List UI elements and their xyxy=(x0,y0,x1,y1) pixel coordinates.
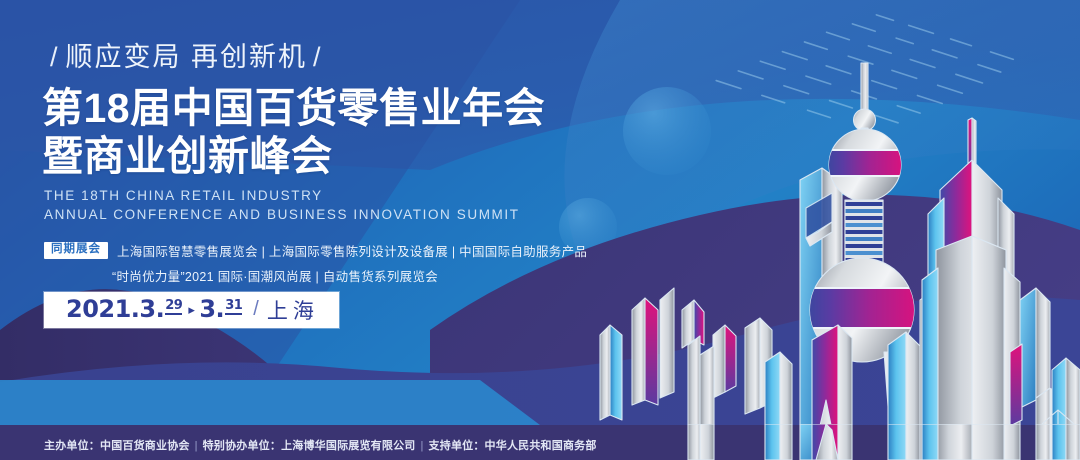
page-title-line1: 第18届中国百货零售业年会 xyxy=(42,86,545,130)
date-arrow-icon: ▸ xyxy=(188,304,194,317)
date-day-start: 29 xyxy=(165,299,182,315)
english-subtitle: THE 18TH CHINA RETAIL INDUSTRY ANNUAL CO… xyxy=(44,186,520,224)
supporter-label: 支持单位： xyxy=(429,440,485,452)
english-subtitle-line1: THE 18TH CHINA RETAIL INDUSTRY xyxy=(44,186,520,205)
expo-list-line1: 上海国际智慧零售展览会 | 上海国际零售陈列设计及设备展 | 中国国际自助服务产… xyxy=(117,241,587,260)
english-subtitle-line2: ANNUAL CONFERENCE AND BUSINESS INNOVATIO… xyxy=(44,205,520,224)
kicker-text: 顺应变局 再创新机 xyxy=(66,42,308,72)
supporter-name: 中华人民共和国商务部 xyxy=(485,440,597,452)
date-month-end: 3. xyxy=(199,297,224,321)
kicker-line: /顺应变局 再创新机/ xyxy=(44,44,329,71)
footer-sep-2: | xyxy=(415,440,428,452)
date-day-end: 31 xyxy=(225,299,242,315)
slash-left: / xyxy=(44,42,66,72)
organizer-label: 主办单位： xyxy=(44,440,100,452)
date-separator: / xyxy=(253,298,259,321)
city-name: 上海 xyxy=(267,295,319,325)
coorganizer-label: 特别协办单位： xyxy=(203,440,281,452)
expo-list-line2: “时尚优力量”2021 国际·国潮风尚展 | 自动售货系列展览会 xyxy=(112,266,544,285)
coorganizer-name: 上海博华国际展览有限公司 xyxy=(281,440,415,452)
page-title-line2: 暨商业创新峰会 xyxy=(42,134,333,178)
footer-sep-1: | xyxy=(190,440,203,452)
footer-credits: 主办单位：中国百货商业协会|特别协办单位：上海博华国际展览有限公司|支持单位：中… xyxy=(44,437,597,453)
expo-row-1: 同期展会 上海国际智慧零售展览会 | 上海国际零售陈列设计及设备展 | 中国国际… xyxy=(44,241,544,260)
concurrent-expo-badge: 同期展会 xyxy=(44,242,108,259)
conference-banner: /顺应变局 再创新机/ 第18届中国百货零售业年会 暨商业创新峰会 THE 18… xyxy=(0,0,1080,460)
organizer-name: 中国百货商业协会 xyxy=(100,440,190,452)
date-location-badge: 2021.3.29▸3.31 / 上海 xyxy=(44,292,339,328)
date-year-month: 2021.3. xyxy=(66,297,164,321)
date-text: 2021.3.29▸3.31 xyxy=(66,297,243,323)
slash-right: / xyxy=(307,42,329,72)
concurrent-expos: 同期展会 上海国际智慧零售展览会 | 上海国际零售陈列设计及设备展 | 中国国际… xyxy=(44,241,544,285)
